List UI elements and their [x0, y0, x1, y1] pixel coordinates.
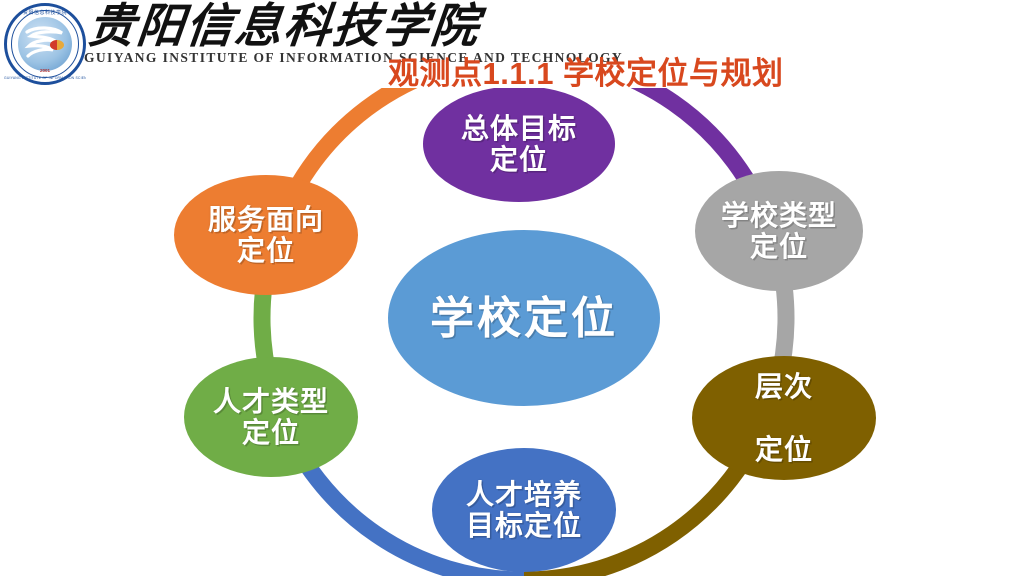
logo-swoosh-icon — [24, 25, 66, 59]
logo-year: 2001 — [4, 68, 86, 73]
node-center-school-positioning[interactable] — [388, 230, 660, 406]
node-school-type[interactable] — [695, 171, 863, 291]
logo-arc-text-top: 贵阳信息科技学院 — [4, 9, 86, 16]
logo-arc-text-bottom: GUIYANG INSTITUTE OF INFORMATION SCIENCE… — [4, 76, 86, 80]
slide-title: 观测点1.1.1 学校定位与规划 — [388, 48, 784, 93]
node-service-orientation[interactable] — [174, 175, 358, 295]
school-logo: 贵阳信息科技学院 2001 GUIYANG INSTITUTE OF INFOR… — [4, 3, 86, 85]
node-layer — [174, 88, 876, 572]
slide-header: 贵阳信息科技学院 2001 GUIYANG INSTITUTE OF INFOR… — [0, 0, 1024, 95]
school-name-chinese: 贵阳信息科技学院 — [85, 2, 482, 52]
school-positioning-cycle-diagram: 总体目标 定位学校类型 定位层次 定位人才培养 目标定位人才类型 定位服务面向 … — [0, 88, 1024, 576]
node-talent-training-goal[interactable] — [432, 448, 616, 572]
node-talent-type[interactable] — [184, 357, 358, 477]
cycle-diagram-canvas — [0, 88, 1024, 576]
node-level[interactable] — [692, 356, 876, 480]
node-overall-goal[interactable] — [423, 88, 615, 202]
